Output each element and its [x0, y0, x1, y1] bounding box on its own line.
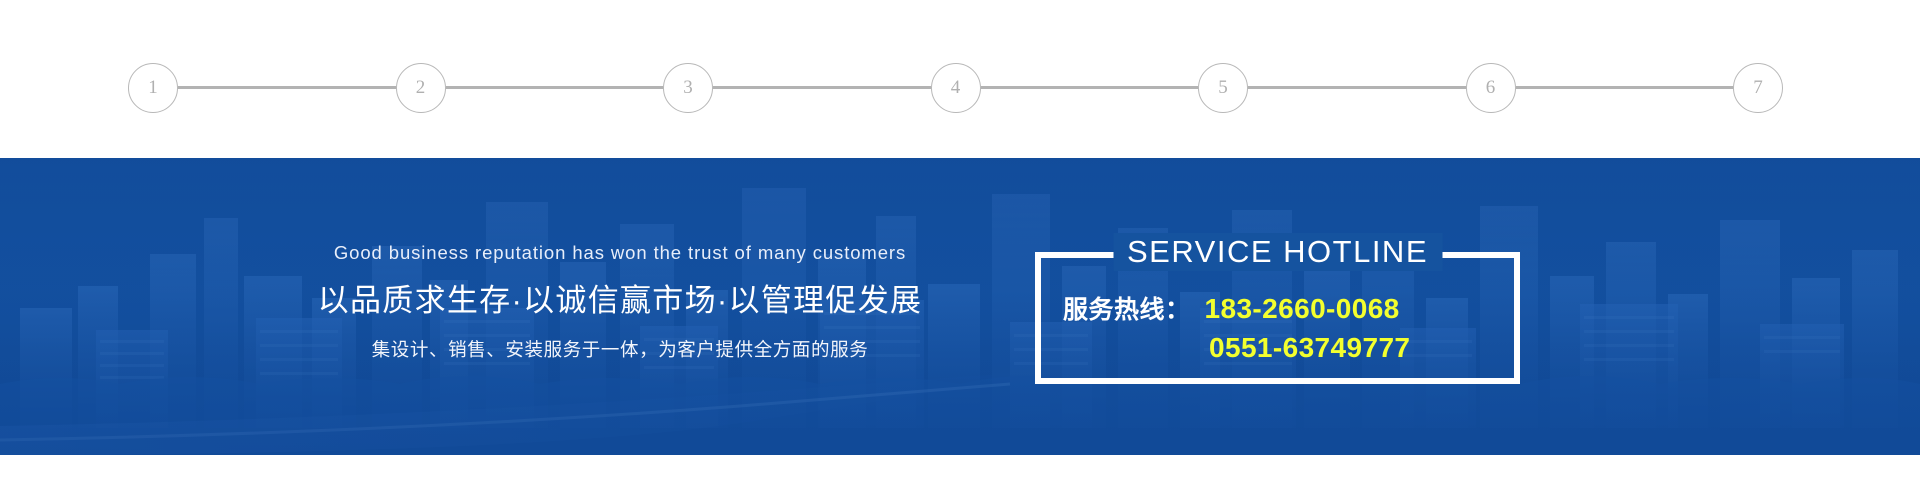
promo-banner-page: 1 2 3 4 5 6 7 [0, 0, 1920, 500]
pagination-dot-5[interactable]: 5 [1198, 63, 1248, 113]
pagination-dot-6[interactable]: 6 [1466, 63, 1516, 113]
hotline-label: 服务热线： [1063, 290, 1191, 326]
slide-pagination: 1 2 3 4 5 6 7 [0, 0, 1920, 158]
hotline-number-mobile[interactable]: 183-2660-0068 [1205, 293, 1400, 325]
banner-tint-overlay [0, 158, 1920, 455]
hotline-row-primary: 服务热线： 183-2660-0068 [1063, 290, 1504, 326]
slogan-english: Good business reputation has won the tru… [300, 242, 940, 264]
pagination-connector [1248, 86, 1466, 89]
slogan-chinese-main: 以品质求生存·以诚信赢市场·以管理促发展 [300, 282, 940, 321]
service-hotline-box: SERVICE HOTLINE 服务热线： 183-2660-0068 0551… [1035, 252, 1520, 384]
slogan-chinese-sub: 集设计、销售、安装服务于一体，为客户提供全方面的服务 [300, 338, 940, 362]
slogan-block: Good business reputation has won the tru… [300, 242, 940, 362]
pagination-dot-4[interactable]: 4 [931, 63, 981, 113]
pagination-connector [981, 86, 1199, 89]
pagination-dot-3[interactable]: 3 [663, 63, 713, 113]
pagination-connector [713, 86, 931, 89]
pagination-track: 1 2 3 4 5 6 7 [128, 86, 1783, 89]
pagination-dot-7[interactable]: 7 [1733, 63, 1783, 113]
pagination-connector [1516, 86, 1734, 89]
hotline-title: SERVICE HOTLINE [1113, 233, 1442, 271]
hotline-row-secondary: 0551-63749777 [1063, 332, 1504, 364]
pagination-connector [178, 86, 396, 89]
pagination-dot-2[interactable]: 2 [396, 63, 446, 113]
blue-banner: Good business reputation has won the tru… [0, 158, 1920, 455]
pagination-dot-1[interactable]: 1 [128, 63, 178, 113]
hotline-number-landline[interactable]: 0551-63749777 [1209, 332, 1410, 364]
hotline-body: 服务热线： 183-2660-0068 0551-63749777 [1035, 290, 1520, 364]
pagination-connector [446, 86, 664, 89]
